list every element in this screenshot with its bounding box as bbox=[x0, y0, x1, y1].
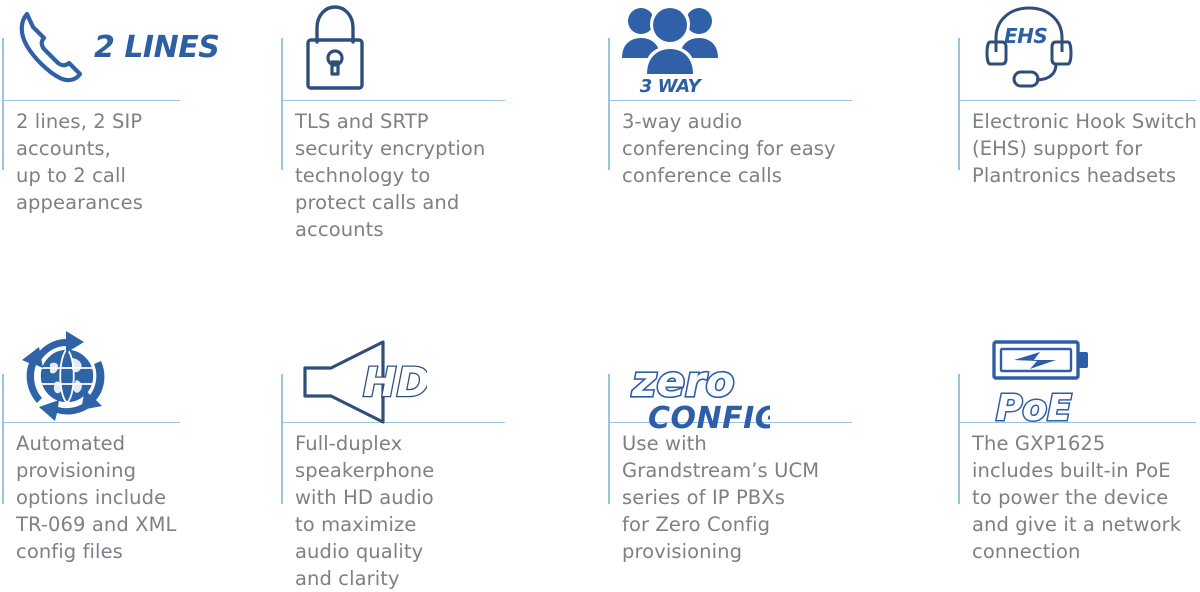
svg-text:PoE: PoE bbox=[996, 388, 1072, 428]
feature-description: The GXP1625 includes built-in PoE to pow… bbox=[972, 430, 1181, 565]
phone-handset-icon bbox=[14, 4, 88, 90]
globe-sync-icon bbox=[14, 409, 120, 428]
feature-description: Automated provisioning options include T… bbox=[16, 430, 176, 565]
svg-text:HD: HD bbox=[363, 360, 427, 406]
vertical-divider bbox=[958, 38, 960, 170]
padlock-icon bbox=[299, 79, 371, 98]
vertical-divider bbox=[608, 374, 610, 504]
vertical-divider bbox=[281, 38, 283, 170]
headset-ehs-icon bbox=[984, 73, 1076, 92]
icon-slot: 3 WAY bbox=[616, 0, 724, 96]
feature-description: Electronic Hook Switch (EHS) support for… bbox=[972, 108, 1197, 189]
feature-grid: 2 LINES 2 lines, 2 SIP accounts, up to 2… bbox=[0, 0, 1200, 577]
feature-description: 2 lines, 2 SIP accounts, up to 2 call ap… bbox=[16, 108, 143, 216]
vertical-divider bbox=[281, 374, 283, 504]
icon-slot: PoE bbox=[990, 328, 1094, 424]
feature-description: Full-duplex speakerphone with HD audio t… bbox=[295, 430, 434, 592]
vertical-divider bbox=[608, 38, 610, 170]
feature-description: 3-way audio conferencing for easy confer… bbox=[622, 108, 836, 189]
icon-badge-ehs: EHS bbox=[1004, 24, 1047, 48]
horizontal-divider bbox=[281, 100, 505, 101]
icon-badge-three-way: 3 WAY bbox=[640, 76, 700, 97]
icon-slot: zero CONFIG bbox=[630, 340, 770, 436]
vertical-divider bbox=[2, 374, 4, 504]
svg-text:zero: zero bbox=[631, 358, 735, 406]
icon-badge-two-lines: 2 LINES bbox=[94, 30, 219, 65]
vertical-divider bbox=[2, 38, 4, 170]
three-people-icon bbox=[616, 2, 724, 78]
icon-slot: 2 LINES bbox=[14, 0, 219, 96]
speaker-hd-icon: HD bbox=[297, 338, 427, 430]
icon-slot bbox=[14, 328, 120, 424]
icon-slot: EHS bbox=[984, 0, 1076, 96]
feature-description: TLS and SRTP security encryption technol… bbox=[295, 108, 485, 243]
horizontal-divider bbox=[2, 100, 180, 101]
horizontal-divider bbox=[958, 100, 1196, 101]
icon-slot: HD bbox=[297, 332, 427, 428]
horizontal-divider bbox=[608, 100, 852, 101]
icon-slot bbox=[299, 0, 371, 96]
feature-description: Use with Grandstream’s UCM series of IP … bbox=[622, 430, 819, 565]
vertical-divider bbox=[958, 374, 960, 504]
battery-poe-icon: PoE bbox=[990, 336, 1094, 432]
